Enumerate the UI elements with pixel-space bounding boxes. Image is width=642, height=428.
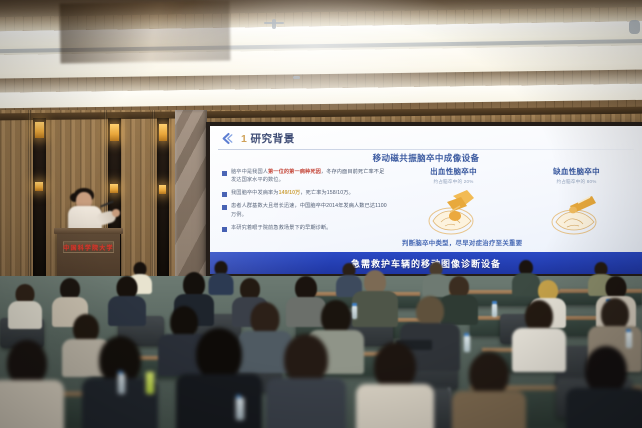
- pane-ischemic: 缺血性脑卒中 约占脑卒中的 80%: [515, 166, 638, 256]
- wall-niche: [33, 118, 46, 293]
- slide-title-text: 研究背景: [250, 133, 294, 145]
- person-head: [321, 300, 351, 334]
- person-head: [374, 342, 416, 390]
- bottle-cap: [464, 333, 469, 336]
- audience-member: [266, 334, 346, 428]
- ceiling: [0, 0, 642, 122]
- person-head: [196, 328, 242, 380]
- audience-member: [356, 342, 434, 428]
- bullet-square-icon: [222, 171, 227, 176]
- audience-member: [8, 284, 42, 324]
- audience-member: [108, 276, 146, 322]
- person-head: [469, 352, 509, 396]
- person-body: [108, 296, 146, 326]
- water-bottle: [236, 398, 244, 420]
- wall-light-icon: [110, 184, 118, 193]
- list-item: 患者人群基数大且增长迅速，中国脑卒中2014年发病人数已达1100万例。: [222, 202, 388, 219]
- chevron-left-icon[interactable]: [220, 132, 233, 145]
- wall-light-icon: [110, 124, 119, 141]
- person-body: [566, 388, 642, 428]
- bullet-text: 脑卒中是我国人第一位的第一病种死因，冬存内面目前死亡率不足发达国家水平的数位。: [231, 168, 388, 185]
- person-body: [266, 378, 346, 428]
- pane-subtitle: 约占脑卒中的 80%: [515, 179, 638, 185]
- person-body: [8, 301, 42, 329]
- lecture-hall-photo: 1研究背景 移动磁共振脑卒中成像设备 脑卒中是我国人第一位的第一病种死因，冬存内…: [0, 0, 642, 428]
- person-head: [585, 346, 627, 394]
- slide-subtitle: 移动磁共振脑卒中成像设备: [210, 152, 642, 164]
- wall-niche: [157, 118, 169, 293]
- bottle-cap: [236, 395, 241, 398]
- water-bottle: [492, 304, 497, 317]
- person-head: [416, 296, 444, 326]
- bullet-square-icon: [222, 227, 227, 232]
- wall-light-icon: [35, 122, 44, 138]
- speaker-hand: [112, 209, 120, 217]
- audience-member: [452, 352, 526, 428]
- wall-light-icon: [159, 124, 167, 141]
- person-body: [452, 391, 526, 428]
- bullet-square-icon: [222, 205, 227, 210]
- person-head: [284, 334, 328, 384]
- pane-subtitle: 约占脑卒中的 20%: [392, 179, 515, 185]
- wall-light-icon: [35, 182, 43, 191]
- audience-member: [176, 328, 262, 428]
- list-item: 本研究着眼于院前急救场景下的早期诊断。: [222, 224, 388, 232]
- title-divider: [218, 149, 634, 150]
- bottle-cap: [118, 371, 123, 374]
- bullet-square-icon: [222, 192, 227, 197]
- person-body: [0, 380, 64, 428]
- list-item: 脑卒中是我国人第一位的第一病种死因，冬存内面目前死亡率不足发达国家水平的数位。: [222, 168, 388, 185]
- water-bottle: [118, 374, 125, 394]
- list-item: 我国脑卒中发病率为149/10万，死亡率为158/10万。: [222, 189, 388, 197]
- person-body: [356, 384, 434, 428]
- ceiling-fixture-icon: [293, 76, 300, 79]
- bullet-text: 我国脑卒中发病率为149/10万，死亡率为158/10万。: [231, 189, 354, 197]
- ceiling-fixture-icon: [264, 22, 284, 24]
- ceiling-fixture-icon: [272, 19, 276, 29]
- projection-screen: 1研究背景 移动磁共振脑卒中成像设备 脑卒中是我国人第一位的第一病种死因，冬存内…: [206, 122, 642, 278]
- slide-section-number: 1: [241, 133, 247, 145]
- bottle-cap: [492, 301, 497, 304]
- pane-title: 缺血性脑卒中: [515, 166, 638, 177]
- brain-hemorrhage-illustration: [417, 188, 491, 238]
- slide-title: 1研究背景: [241, 131, 295, 146]
- brain-ischemia-illustration: [540, 188, 614, 238]
- podium-nameplate-text: 中国科学院大学: [63, 243, 113, 252]
- person-body: [176, 374, 262, 428]
- podium-nameplate: 中国科学院大学: [63, 241, 114, 253]
- bullet-list: 脑卒中是我国人第一位的第一病种死因，冬存内面目前死亡率不足发达国家水平的数位。 …: [210, 166, 392, 256]
- water-bottle: [464, 336, 470, 352]
- presentation-slide: 1研究背景 移动磁共振脑卒中成像设备 脑卒中是我国人第一位的第一病种死因，冬存内…: [210, 126, 642, 274]
- bullet-text: 患者人群基数大且增长迅速，中国脑卒中2014年发病人数已达1100万例。: [231, 202, 388, 219]
- slide-footnote: 判断脑卒中类型，尽早对症治疗至关重要: [402, 238, 522, 247]
- pane-title: 出血性脑卒中: [392, 166, 515, 177]
- bottle-cap: [626, 329, 631, 332]
- ceiling-speaker-icon: [629, 20, 640, 34]
- audience-member: [0, 340, 64, 428]
- water-bottle: [146, 372, 154, 394]
- wall-light-icon: [159, 185, 166, 194]
- ceiling-reflection: [59, 1, 230, 64]
- slide-header: 1研究背景: [210, 126, 642, 150]
- audience-member: [566, 346, 642, 428]
- podium-top: [54, 228, 123, 234]
- bullet-text: 本研究着眼于院前急救场景下的早期诊断。: [231, 224, 331, 232]
